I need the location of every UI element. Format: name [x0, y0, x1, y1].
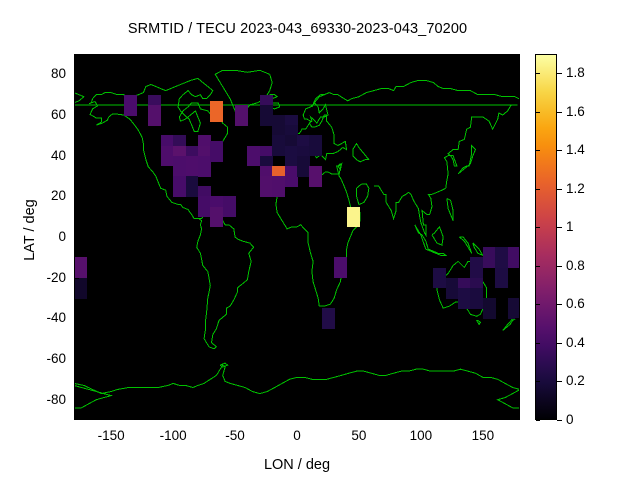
y-tick	[74, 400, 79, 401]
heatmap-cell	[495, 247, 508, 268]
x-tick	[235, 415, 236, 420]
heatmap-cell	[173, 156, 186, 177]
heatmap-cell	[272, 115, 285, 136]
heatmap-cell	[235, 105, 248, 126]
colorbar-tick-inner	[536, 420, 540, 421]
y-tick	[515, 318, 520, 319]
heatmap-cell	[297, 156, 310, 177]
y-tick	[74, 156, 79, 157]
x-axis-label: LON / deg	[74, 457, 520, 473]
x-tick	[111, 54, 112, 59]
colorbar-gradient	[536, 55, 556, 419]
heatmap-cell	[458, 288, 471, 309]
colorbar-tick-inner	[536, 189, 540, 190]
y-tick	[515, 237, 520, 238]
heatmap-cell	[260, 176, 273, 197]
colorbar-tick-label: 1.6	[566, 104, 585, 119]
y-tick	[515, 196, 520, 197]
heatmap-cell	[173, 176, 186, 197]
x-tick	[483, 415, 484, 420]
y-tick	[74, 237, 79, 238]
heatmap-cell	[198, 196, 211, 217]
heatmap-cell	[247, 146, 260, 167]
x-tick-label: 50	[329, 428, 389, 443]
heatmap-cell	[483, 247, 496, 268]
heatmap-cell	[285, 166, 298, 187]
heatmap-cell	[508, 298, 520, 319]
map-plot-area	[74, 54, 520, 420]
colorbar-tick	[557, 420, 562, 421]
colorbar-tick	[557, 266, 562, 267]
colorbar-tick-label: 1.8	[566, 65, 585, 80]
y-tick	[515, 359, 520, 360]
x-tick	[297, 415, 298, 420]
y-tick	[74, 318, 79, 319]
x-tick-label: -100	[143, 428, 203, 443]
colorbar-tick-inner	[536, 73, 540, 74]
y-tick	[74, 115, 79, 116]
colorbar-tick-inner	[536, 266, 540, 267]
heatmap-cell	[210, 141, 223, 162]
heatmap-cell	[433, 268, 446, 289]
heatmap-cell	[272, 176, 285, 197]
colorbar-tick-label: 0.2	[566, 373, 585, 388]
heatmap-cell	[508, 247, 520, 268]
heatmap-cell	[334, 257, 347, 278]
y-tick	[515, 400, 520, 401]
colorbar-tick-inner	[536, 227, 540, 228]
heatmap-cell	[272, 135, 285, 156]
heatmap-cell	[446, 278, 459, 299]
heatmap-cell	[347, 207, 360, 228]
y-tick	[74, 359, 79, 360]
figure-title: SRMTID / TECU 2023-043_69330-2023-043_70…	[0, 21, 595, 37]
colorbar-tick-inner	[536, 381, 540, 382]
x-tick	[421, 54, 422, 59]
colorbar-tick	[557, 112, 562, 113]
y-tick	[515, 156, 520, 157]
colorbar-tick	[557, 189, 562, 190]
heatmap-cell	[210, 207, 223, 228]
colorbar-tick-inner	[536, 150, 540, 151]
heatmap-cell	[198, 156, 211, 177]
x-tick	[359, 54, 360, 59]
colorbar-tick	[557, 227, 562, 228]
heatmap-cell	[483, 298, 496, 319]
heatmap-cell	[322, 308, 335, 329]
colorbar-tick	[557, 343, 562, 344]
colorbar-tick-inner	[536, 304, 540, 305]
y-tick-label: -80	[20, 392, 66, 407]
colorbar-tick-label: 1.4	[566, 142, 585, 157]
tec-map-figure: SRMTID / TECU 2023-043_69330-2023-043_70…	[0, 0, 640, 480]
y-tick-label: 80	[20, 66, 66, 81]
colorbar-tick-inner	[536, 343, 540, 344]
colorbar-tick-label: 0.8	[566, 258, 585, 273]
colorbar-tick	[557, 304, 562, 305]
colorbar-tick-label: 0.4	[566, 335, 585, 350]
x-tick	[421, 415, 422, 420]
x-tick	[359, 415, 360, 420]
y-tick	[74, 278, 79, 279]
colorbar-tick-label: 1	[566, 219, 574, 234]
colorbar-tick	[557, 73, 562, 74]
colorbar	[535, 54, 557, 420]
x-tick	[297, 54, 298, 59]
colorbar-tick	[557, 381, 562, 382]
colorbar-tick-label: 0.6	[566, 296, 585, 311]
heatmap-cell	[161, 146, 174, 167]
heatmap-cell	[186, 156, 199, 177]
heatmap-cell	[309, 166, 322, 187]
x-tick	[111, 415, 112, 420]
heatmap-cell	[223, 196, 236, 217]
y-tick	[515, 74, 520, 75]
heatmap-cell	[309, 135, 322, 156]
heatmap-cell	[74, 257, 87, 278]
heatmap-cell	[285, 146, 298, 167]
y-tick-label: -60	[20, 351, 66, 366]
y-tick	[515, 115, 520, 116]
heatmap-cell	[124, 95, 137, 116]
x-tick-label: 150	[453, 428, 513, 443]
heatmap-cell	[186, 176, 199, 197]
heatmap-cell	[148, 105, 161, 126]
y-tick	[515, 278, 520, 279]
y-tick	[74, 196, 79, 197]
heatmap-cell	[260, 105, 273, 126]
x-tick	[235, 54, 236, 59]
x-tick	[173, 415, 174, 420]
heatmap-cell	[495, 268, 508, 289]
heatmap-cell	[210, 101, 223, 122]
x-tick	[483, 54, 484, 59]
x-tick-label: -150	[81, 428, 141, 443]
x-tick-label: 0	[267, 428, 327, 443]
x-tick-label: 100	[391, 428, 451, 443]
x-tick-label: -50	[205, 428, 265, 443]
heatmap-cell	[74, 278, 87, 299]
y-axis-label: LAT / deg	[22, 120, 38, 340]
heatmap-cell	[470, 288, 483, 309]
colorbar-tick	[557, 150, 562, 151]
heatmap-cell-layer	[74, 54, 520, 420]
colorbar-tick-label: 1.2	[566, 181, 585, 196]
colorbar-tick-label: 0	[566, 412, 574, 427]
colorbar-tick-inner	[536, 112, 540, 113]
x-tick	[173, 54, 174, 59]
y-tick	[74, 74, 79, 75]
heatmap-cell	[470, 257, 483, 278]
